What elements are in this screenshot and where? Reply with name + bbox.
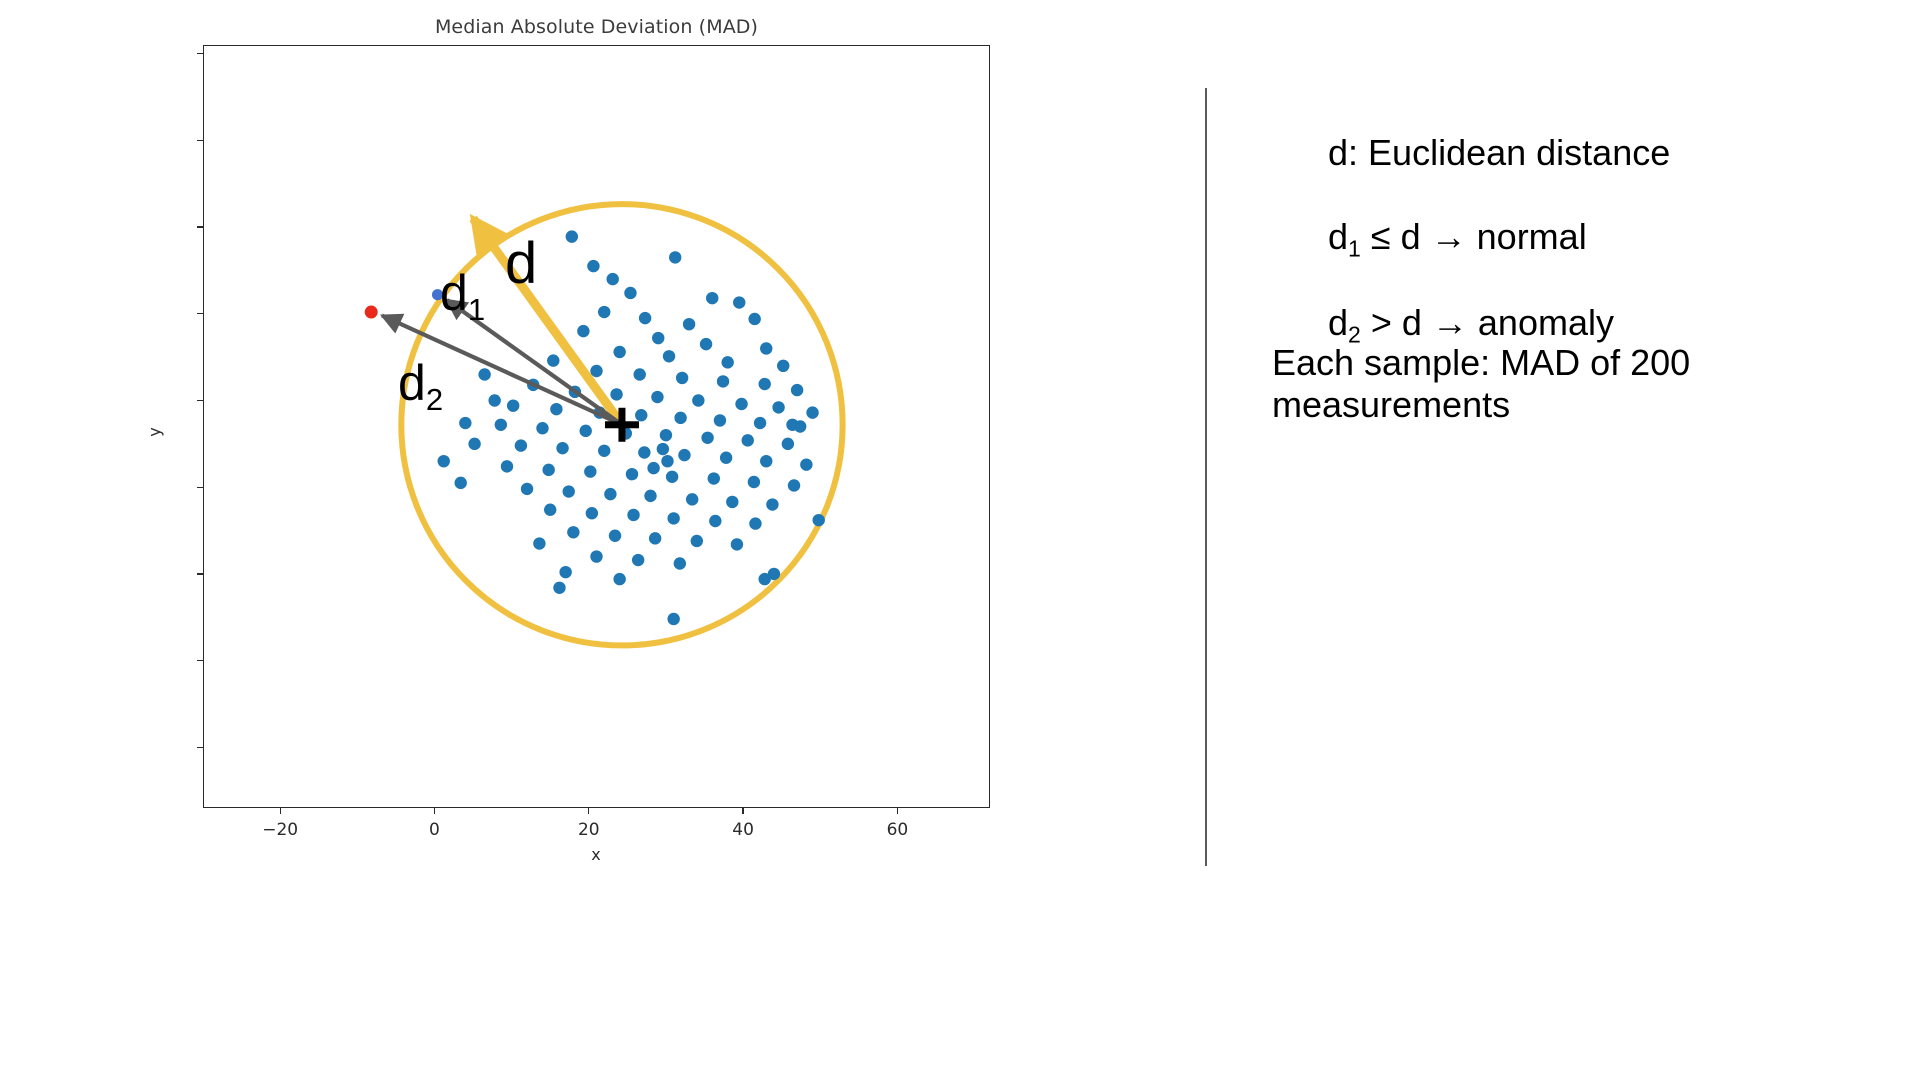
note-line-3-symbol: d (1328, 302, 1348, 343)
x-tick-mark (434, 808, 435, 814)
note-line-2-subscript: 1 (1348, 236, 1361, 262)
y-tick-mark (197, 573, 203, 574)
x-tick-label: −20 (262, 820, 298, 840)
y-tick-mark (197, 487, 203, 488)
annotation-label-d: d (505, 235, 537, 293)
y-tick-mark (197, 226, 203, 227)
annotation-d2-symbol: d (398, 355, 426, 411)
slide-canvas: Median Absolute Deviation (MAD) 70605040… (0, 0, 1920, 1080)
y-tick-mark (197, 53, 203, 54)
y-tick-mark (197, 747, 203, 748)
note-line-3-rest: > d → anomaly (1361, 302, 1614, 343)
note-line-2-symbol: d (1328, 216, 1348, 257)
y-tick-mark (197, 313, 203, 314)
x-tick-label: 0 (429, 820, 440, 840)
chart-title: Median Absolute Deviation (MAD) (203, 16, 990, 38)
annotation-d1-symbol: d (440, 265, 468, 321)
x-tick-label: 40 (732, 820, 754, 840)
x-tick-label: 20 (578, 820, 600, 840)
note-line-2-rest: ≤ d → normal (1361, 216, 1587, 257)
y-tick-mark (197, 660, 203, 661)
x-tick-mark (897, 808, 898, 814)
x-tick-label: 60 (887, 820, 909, 840)
annotation-d2-subscript: 2 (426, 382, 443, 417)
mad-scatter-figure: Median Absolute Deviation (MAD) 70605040… (0, 0, 1010, 1080)
annotation-label-d1: d1 (440, 268, 485, 325)
annotation-d1-subscript: 1 (468, 292, 485, 327)
annotation-d-symbol: d (505, 231, 537, 296)
x-tick-mark (280, 808, 281, 814)
x-axis-label: x (591, 845, 600, 864)
note-sample-definition: Each sample: MAD of 200 measurements (1272, 342, 1882, 427)
y-tick-mark (197, 400, 203, 401)
plot-axes-frame (203, 45, 990, 808)
y-axis-label: y (145, 427, 164, 436)
x-tick-mark (742, 808, 743, 814)
vertical-divider (1205, 88, 1207, 866)
y-tick-mark (197, 140, 203, 141)
x-tick-mark (588, 808, 589, 814)
annotation-label-d2: d2 (398, 358, 443, 415)
note-line-4-text: Each sample: MAD of 200 measurements (1272, 342, 1690, 425)
note-line-1-text: d: Euclidean distance (1328, 132, 1670, 173)
